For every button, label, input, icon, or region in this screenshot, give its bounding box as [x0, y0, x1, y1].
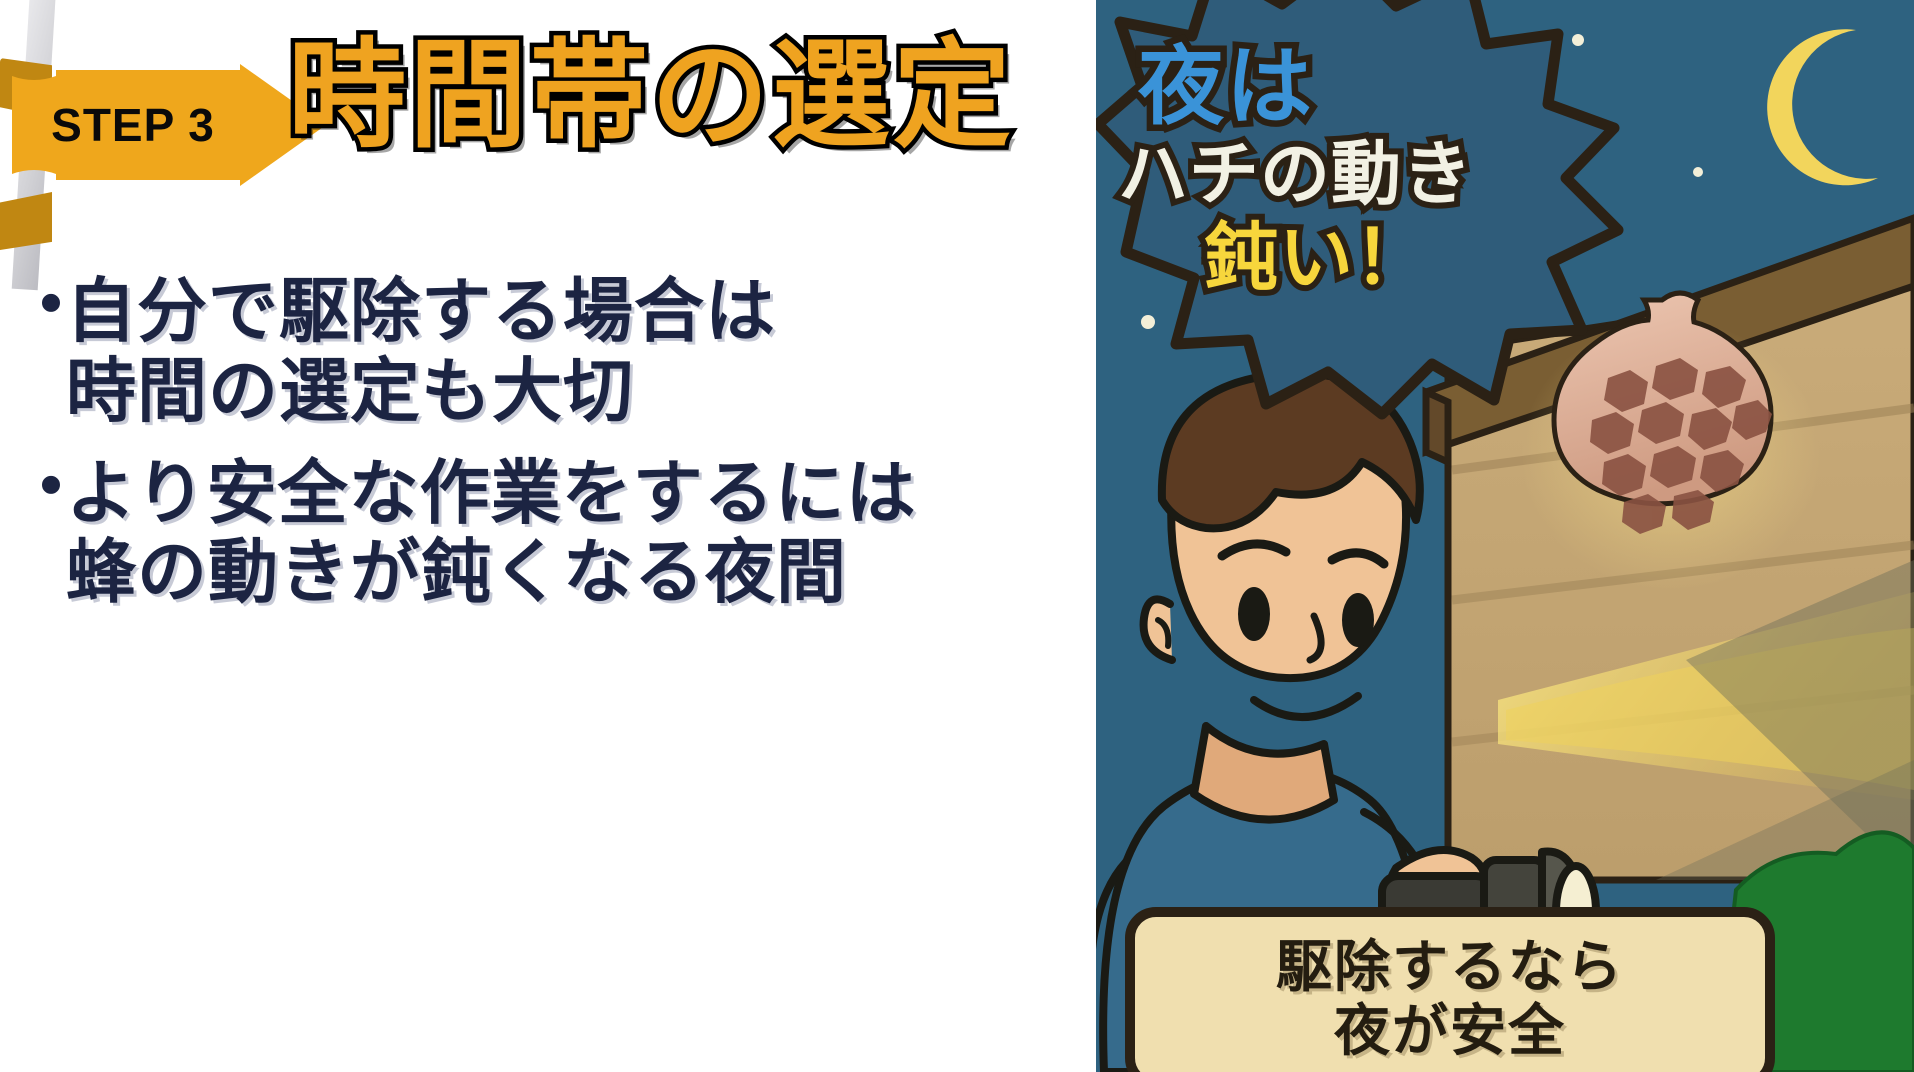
- bullet-text: 自分で駆除する場合は 時間の選定も大切: [66, 272, 1084, 432]
- bullet-text: より安全な作業をするには 蜂の動きが鈍くなる夜間: [66, 454, 1084, 614]
- ribbon-fold-bottom: [0, 192, 52, 250]
- bullet-marker: ・: [14, 454, 66, 522]
- bullet-line: 時間の選定も大切: [66, 352, 1084, 432]
- page-title: 時間帯の選定: [288, 34, 1014, 157]
- step-badge-label: STEP 3: [8, 62, 258, 188]
- bullet-list: ・ 自分で駆除する場合は 時間の選定も大切 ・ より安全な作業をするには 蜂の動…: [14, 272, 1084, 635]
- sign-line-2: 夜が安全: [1130, 1000, 1770, 1064]
- list-item: ・ より安全な作業をするには 蜂の動きが鈍くなる夜間: [14, 454, 1084, 614]
- bullet-line: 自分で駆除する場合は: [66, 272, 1084, 352]
- bullet-line: より安全な作業をするには: [66, 454, 1084, 534]
- bullet-marker: ・: [14, 272, 66, 340]
- burst-line-3: 鈍い！: [1204, 198, 1429, 305]
- illustration-panel: 夜は ハチの動き 鈍い！ 駆除するなら 夜が安全: [1096, 0, 1914, 1072]
- sign-line-1: 駆除するなら: [1130, 936, 1770, 1000]
- list-item: ・ 自分で駆除する場合は 時間の選定も大切: [14, 272, 1084, 432]
- slide-root: STEP 3 時間帯の選定 ・ 自分で駆除する場合は 時間の選定も大切 ・ より…: [0, 0, 1914, 1072]
- left-content-panel: STEP 3 時間帯の選定 ・ 自分で駆除する場合は 時間の選定も大切 ・ より…: [0, 0, 1096, 1072]
- bullet-line: 蜂の動きが鈍くなる夜間: [66, 533, 1084, 613]
- sign-text-container: 駆除するなら 夜が安全: [1130, 912, 1770, 1072]
